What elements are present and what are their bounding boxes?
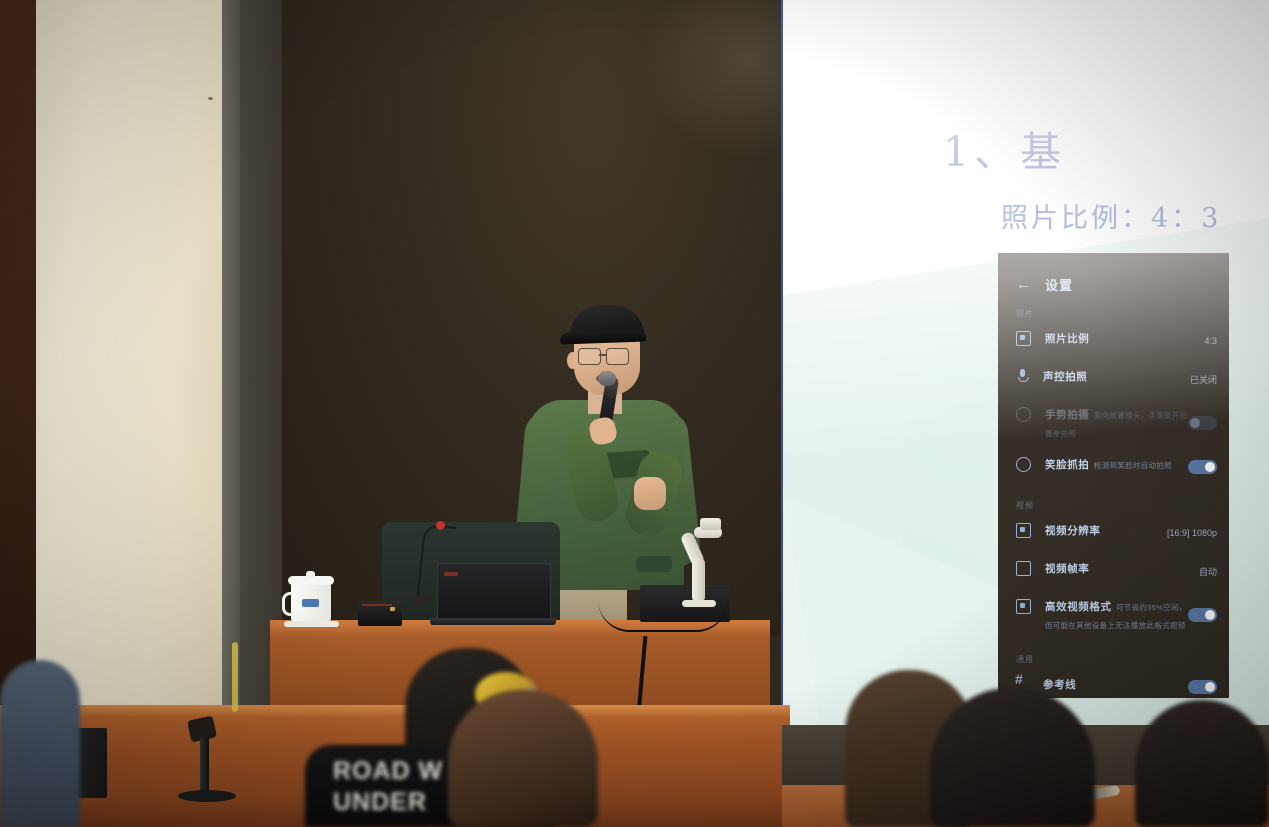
back-arrow-icon[interactable]: ← — [1016, 277, 1031, 292]
video-resolution-icon — [1016, 523, 1031, 538]
slide-title: 1、基 — [943, 118, 1066, 178]
device-led — [390, 607, 395, 611]
grid-lines-toggle[interactable] — [1188, 680, 1217, 694]
row-label: 照片比例 — [1045, 333, 1089, 345]
row-text: 视频帧率 — [1031, 559, 1199, 577]
efficient-video-icon — [1016, 599, 1031, 614]
settings-row-voice-capture[interactable]: 声控拍照 已关闭 — [998, 360, 1229, 398]
row-label: 手势拍摄 — [1045, 409, 1089, 421]
settings-row-smile-capture[interactable]: 笑脸抓拍 检测到笑脸时自动拍照 — [998, 448, 1229, 486]
left-brown-wall — [0, 0, 36, 705]
row-label: 高效视频格式 — [1045, 601, 1112, 613]
yellow-cable — [232, 642, 238, 712]
lecture-hall-photo: 1、基 照片比例：4：3 ← 设置 照片 照片比例 4:3 声控拍照 — [0, 0, 1269, 827]
row-value: 自动 — [1199, 565, 1217, 578]
mug-saucer — [284, 621, 339, 627]
settings-row-efficient-video[interactable]: 高效视频格式 可节省约35%空间，但可能在其他设备上无法播放此格式视频 — [998, 590, 1229, 640]
gimbal-head — [700, 518, 721, 530]
black-laptop-base — [430, 618, 556, 625]
laptop-logo — [444, 572, 458, 576]
row-text: 高效视频格式 可节省约35%空间，但可能在其他设备上无法播放此格式视频 — [1031, 597, 1188, 633]
efficient-video-toggle[interactable] — [1188, 608, 1217, 622]
phone-settings-screenshot: ← 设置 照片 照片比例 4:3 声控拍照 已关闭 — [998, 253, 1229, 698]
row-text: 声控拍照 — [1029, 367, 1190, 385]
row-text: 笑脸抓拍 检测到笑脸时自动拍照 — [1031, 455, 1188, 473]
row-label: 声控拍照 — [1043, 371, 1087, 383]
settings-row-photo-ratio[interactable]: 照片比例 4:3 — [998, 322, 1229, 360]
row-value: 已关闭 — [1190, 373, 1217, 386]
section-label-photo: 照片 — [998, 294, 1229, 322]
slide-subtitle: 照片比例：4：3 — [1001, 196, 1221, 235]
section-label-video: 视频 — [998, 486, 1229, 514]
mid-wall-panel — [240, 0, 282, 712]
pillar-mark — [208, 97, 213, 100]
desk-mic-base — [178, 790, 236, 802]
eyeglasses-left-lens — [578, 348, 601, 365]
presenter-right-cuff — [636, 556, 672, 572]
gesture-icon — [1016, 407, 1031, 422]
row-text: 手势拍摄 面向前置镜头，手掌张开后握拳拍照 — [1031, 405, 1188, 441]
row-label: 视频帧率 — [1045, 563, 1089, 575]
settings-row-video-resolution[interactable]: 视频分辨率 [16:9] 1080p — [998, 514, 1229, 552]
settings-row-gesture-capture[interactable]: 手势拍摄 面向前置镜头，手掌张开后握拳拍照 — [998, 398, 1229, 448]
smile-capture-icon — [1016, 457, 1031, 472]
mug-lid-knob — [306, 571, 315, 577]
cream-pillar — [36, 0, 222, 712]
row-text: 视频分辨率 — [1031, 521, 1167, 539]
row-label: 视频分辨率 — [1045, 525, 1101, 537]
eyeglasses-bridge — [599, 354, 606, 356]
eyeglasses-right-lens — [606, 348, 629, 365]
device-stripe — [362, 604, 392, 606]
row-description: 检测到笑脸时自动拍照 — [1094, 461, 1172, 470]
gimbal-post — [692, 558, 705, 602]
microphone-head — [598, 371, 616, 386]
row-label: 笑脸抓拍 — [1045, 459, 1089, 471]
row-label: 参考线 — [1043, 679, 1076, 691]
frame-rate-icon — [1016, 561, 1031, 576]
audience-member-left — [0, 660, 80, 827]
projection-screen: 1、基 照片比例：4：3 ← 设置 照片 照片比例 4:3 声控拍照 — [783, 0, 1269, 727]
audience-member-center-right — [448, 690, 598, 827]
gooseneck-mic-head — [436, 521, 445, 530]
gooseneck-mic-base — [414, 596, 430, 606]
mug-lid — [288, 576, 334, 585]
settings-row-frame-rate[interactable]: 视频帧率 自动 — [998, 552, 1229, 590]
row-value: 4:3 — [1204, 336, 1217, 346]
presenter-right-fist — [634, 477, 666, 510]
mug-logo — [302, 599, 319, 607]
microphone-icon — [1016, 369, 1029, 382]
phone-header: ← 设置 — [998, 253, 1229, 294]
row-value: [16:9] 1080p — [1167, 528, 1217, 538]
podium-cable — [598, 600, 728, 632]
audience-member-far-right — [1135, 700, 1269, 827]
stage-ledge-top-edge — [0, 705, 790, 716]
smile-capture-toggle[interactable] — [1188, 460, 1217, 474]
row-text: 照片比例 — [1031, 329, 1204, 347]
desk-mic-pole — [200, 738, 209, 793]
photo-ratio-icon — [1016, 331, 1031, 346]
row-text: 参考线 — [1029, 675, 1188, 693]
section-label-general: 通用 — [998, 640, 1229, 668]
pillar-edge — [222, 0, 240, 712]
gesture-capture-toggle[interactable] — [1188, 416, 1217, 430]
phone-header-title: 设置 — [1045, 275, 1073, 294]
